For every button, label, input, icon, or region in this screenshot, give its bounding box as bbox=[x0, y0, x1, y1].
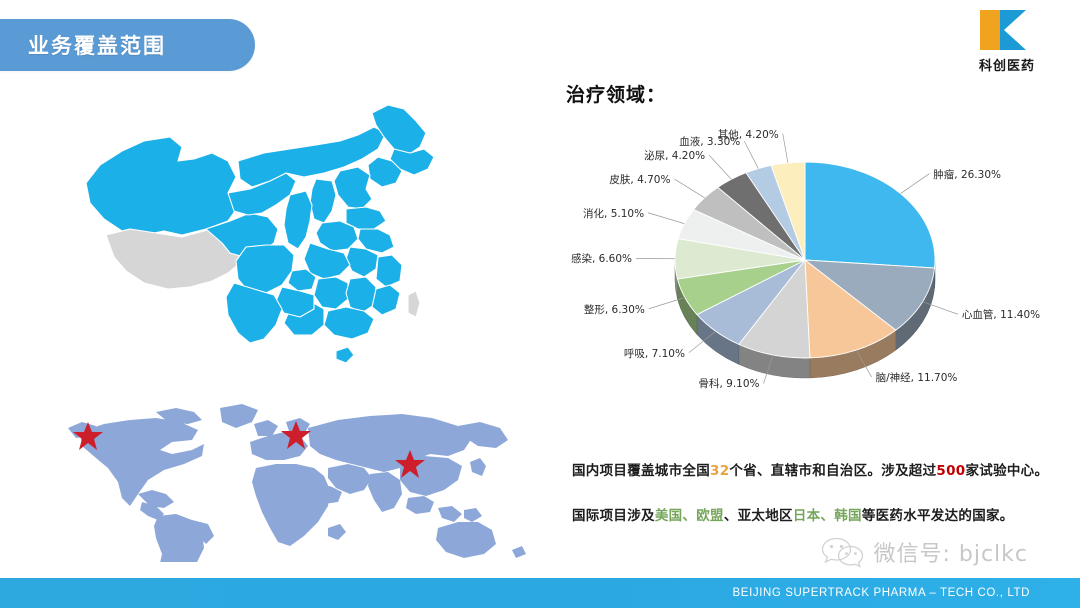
pie-label-脑/神经: 脑/神经, 11.70% bbox=[876, 370, 958, 385]
line2-regions-asia: 日本、韩国 bbox=[793, 508, 862, 524]
logo-k-icon bbox=[978, 8, 1036, 52]
line2-part2: 、亚太地区 bbox=[724, 508, 793, 524]
logo-company-name: 科创医药 bbox=[979, 55, 1035, 74]
leader-肿瘤 bbox=[901, 174, 930, 194]
leader-消化 bbox=[648, 213, 684, 224]
footer-company-name: BEIJING SUPERTRACK PHARMA – TECH CO., LT… bbox=[733, 587, 1030, 599]
china-map bbox=[78, 95, 478, 400]
slide-root: 业务覆盖范围 科创医药 bbox=[0, 0, 1080, 608]
line1-part2: 个省、直辖市和自治区。涉及超过 bbox=[729, 463, 936, 479]
pie-slice-肿瘤[interactable] bbox=[805, 162, 935, 268]
pie-slices bbox=[675, 162, 935, 358]
line2-part1: 国际项目涉及 bbox=[572, 508, 655, 524]
leader-血液 bbox=[744, 141, 758, 168]
page-title: 业务覆盖范围 bbox=[28, 30, 166, 60]
pie-svg bbox=[560, 105, 1080, 425]
international-coverage-text: 国际项目涉及美国、欧盟、亚太地区日本、韩国等医药水平发达的国家。 bbox=[572, 506, 1072, 526]
pie-label-整形: 整形, 6.30% bbox=[584, 302, 645, 317]
pie-label-消化: 消化, 5.10% bbox=[583, 206, 644, 221]
chart-title: 治疗领域： bbox=[566, 80, 666, 107]
wechat-watermark: 微信号: bjclkc bbox=[819, 535, 1028, 569]
line2-part3: 等医药水平发达的国家。 bbox=[862, 508, 1014, 524]
leader-泌尿 bbox=[709, 155, 731, 179]
pie-label-心血管: 心血管, 11.40% bbox=[962, 307, 1040, 322]
footer-bar: BEIJING SUPERTRACK PHARMA – TECH CO., LT… bbox=[0, 578, 1080, 608]
pie-label-皮肤: 皮肤, 4.70% bbox=[609, 172, 670, 187]
slide-title-banner: 业务覆盖范围 bbox=[0, 19, 255, 71]
wechat-icon bbox=[819, 535, 865, 569]
pie-label-骨科: 骨科, 9.10% bbox=[698, 376, 759, 391]
pie-label-泌尿: 泌尿, 4.20% bbox=[644, 148, 705, 163]
line1-part3: 家试验中心。 bbox=[965, 463, 1048, 479]
company-logo: 科创医药 bbox=[952, 8, 1062, 80]
line1-number-provinces: 32 bbox=[710, 463, 729, 479]
domestic-coverage-text: 国内项目覆盖城市全国32个省、直辖市和自治区。涉及超过500家试验中心。 bbox=[572, 461, 1072, 481]
pie-label-呼吸: 呼吸, 7.10% bbox=[624, 346, 685, 361]
line1-number-sites: 500 bbox=[936, 463, 965, 479]
leader-其他 bbox=[783, 134, 788, 163]
wechat-id-text: 微信号: bjclkc bbox=[873, 536, 1028, 568]
therapeutic-areas-pie-chart: 肿瘤, 26.30%心血管, 11.40%脑/神经, 11.70%骨科, 9.1… bbox=[560, 105, 1080, 425]
line2-regions-west: 美国、欧盟 bbox=[655, 508, 724, 524]
pie-label-其他: 其他, 4.20% bbox=[718, 127, 779, 142]
line1-part1: 国内项目覆盖城市全国 bbox=[572, 463, 710, 479]
leader-皮肤 bbox=[674, 179, 704, 198]
world-map bbox=[52, 402, 557, 562]
pie-label-感染: 感染, 6.60% bbox=[571, 251, 632, 266]
pie-label-肿瘤: 肿瘤, 26.30% bbox=[933, 167, 1001, 182]
